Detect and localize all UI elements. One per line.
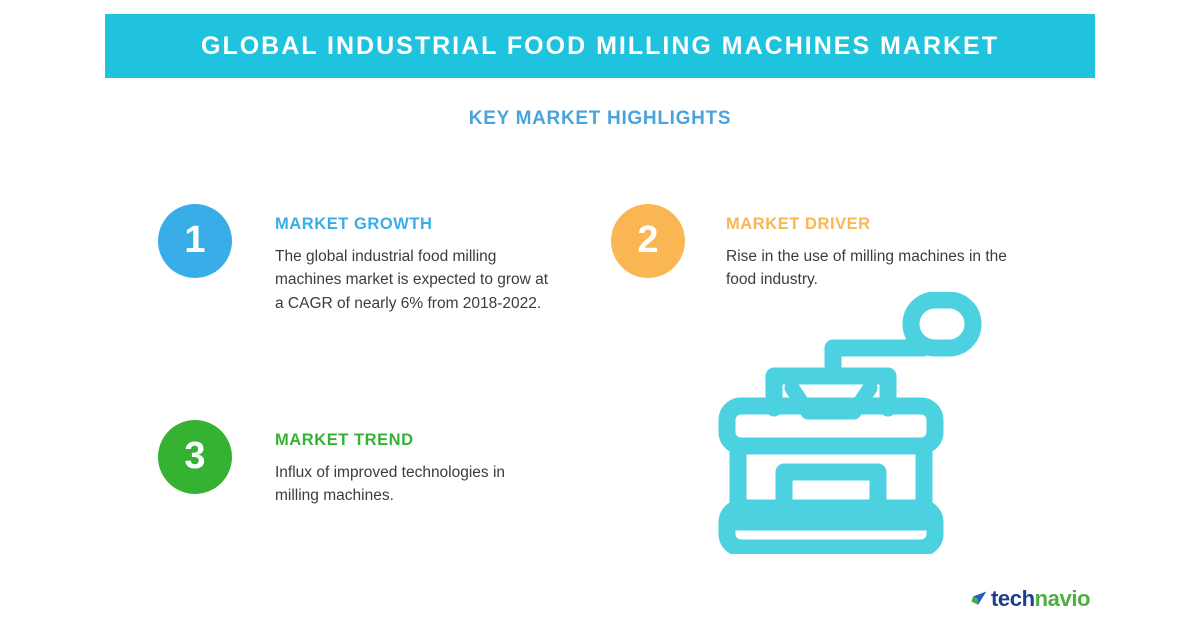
header-banner: GLOBAL INDUSTRIAL FOOD MILLING MACHINES … <box>105 14 1095 78</box>
highlight-heading-3: MARKET TREND <box>275 432 545 449</box>
highlight-number-badge-2: 2 <box>611 204 685 278</box>
technavio-logo: technavio <box>968 586 1090 612</box>
technavio-wordmark: technavio <box>991 588 1090 610</box>
highlight-heading-1: MARKET GROWTH <box>275 216 560 233</box>
highlight-number-badge-3: 3 <box>158 420 232 494</box>
highlight-text-1: The global industrial food milling machi… <box>275 245 560 316</box>
highlight-number-1: 1 <box>184 221 205 259</box>
milling-grinder-svg <box>712 292 992 554</box>
milling-grinder-icon <box>712 292 992 554</box>
page-title: GLOBAL INDUSTRIAL FOOD MILLING MACHINES … <box>201 34 999 59</box>
logo-text-navio: navio <box>1035 586 1090 611</box>
highlight-body-2: MARKET DRIVER Rise in the use of milling… <box>726 216 1016 292</box>
highlight-text-3: Influx of improved technologies in milli… <box>275 461 545 508</box>
section-subtitle: KEY MARKET HIGHLIGHTS <box>0 108 1200 130</box>
highlight-body-3: MARKET TREND Influx of improved technolo… <box>275 432 545 508</box>
highlight-heading-2: MARKET DRIVER <box>726 216 1016 233</box>
highlight-number-3: 3 <box>184 437 205 475</box>
technavio-arrow-icon <box>968 589 988 609</box>
infographic-canvas: GLOBAL INDUSTRIAL FOOD MILLING MACHINES … <box>0 0 1200 627</box>
highlight-number-badge-1: 1 <box>158 204 232 278</box>
highlight-body-1: MARKET GROWTH The global industrial food… <box>275 216 560 315</box>
highlight-number-2: 2 <box>637 221 658 259</box>
highlight-text-2: Rise in the use of milling machines in t… <box>726 245 1016 292</box>
logo-text-tech: tech <box>991 586 1035 611</box>
